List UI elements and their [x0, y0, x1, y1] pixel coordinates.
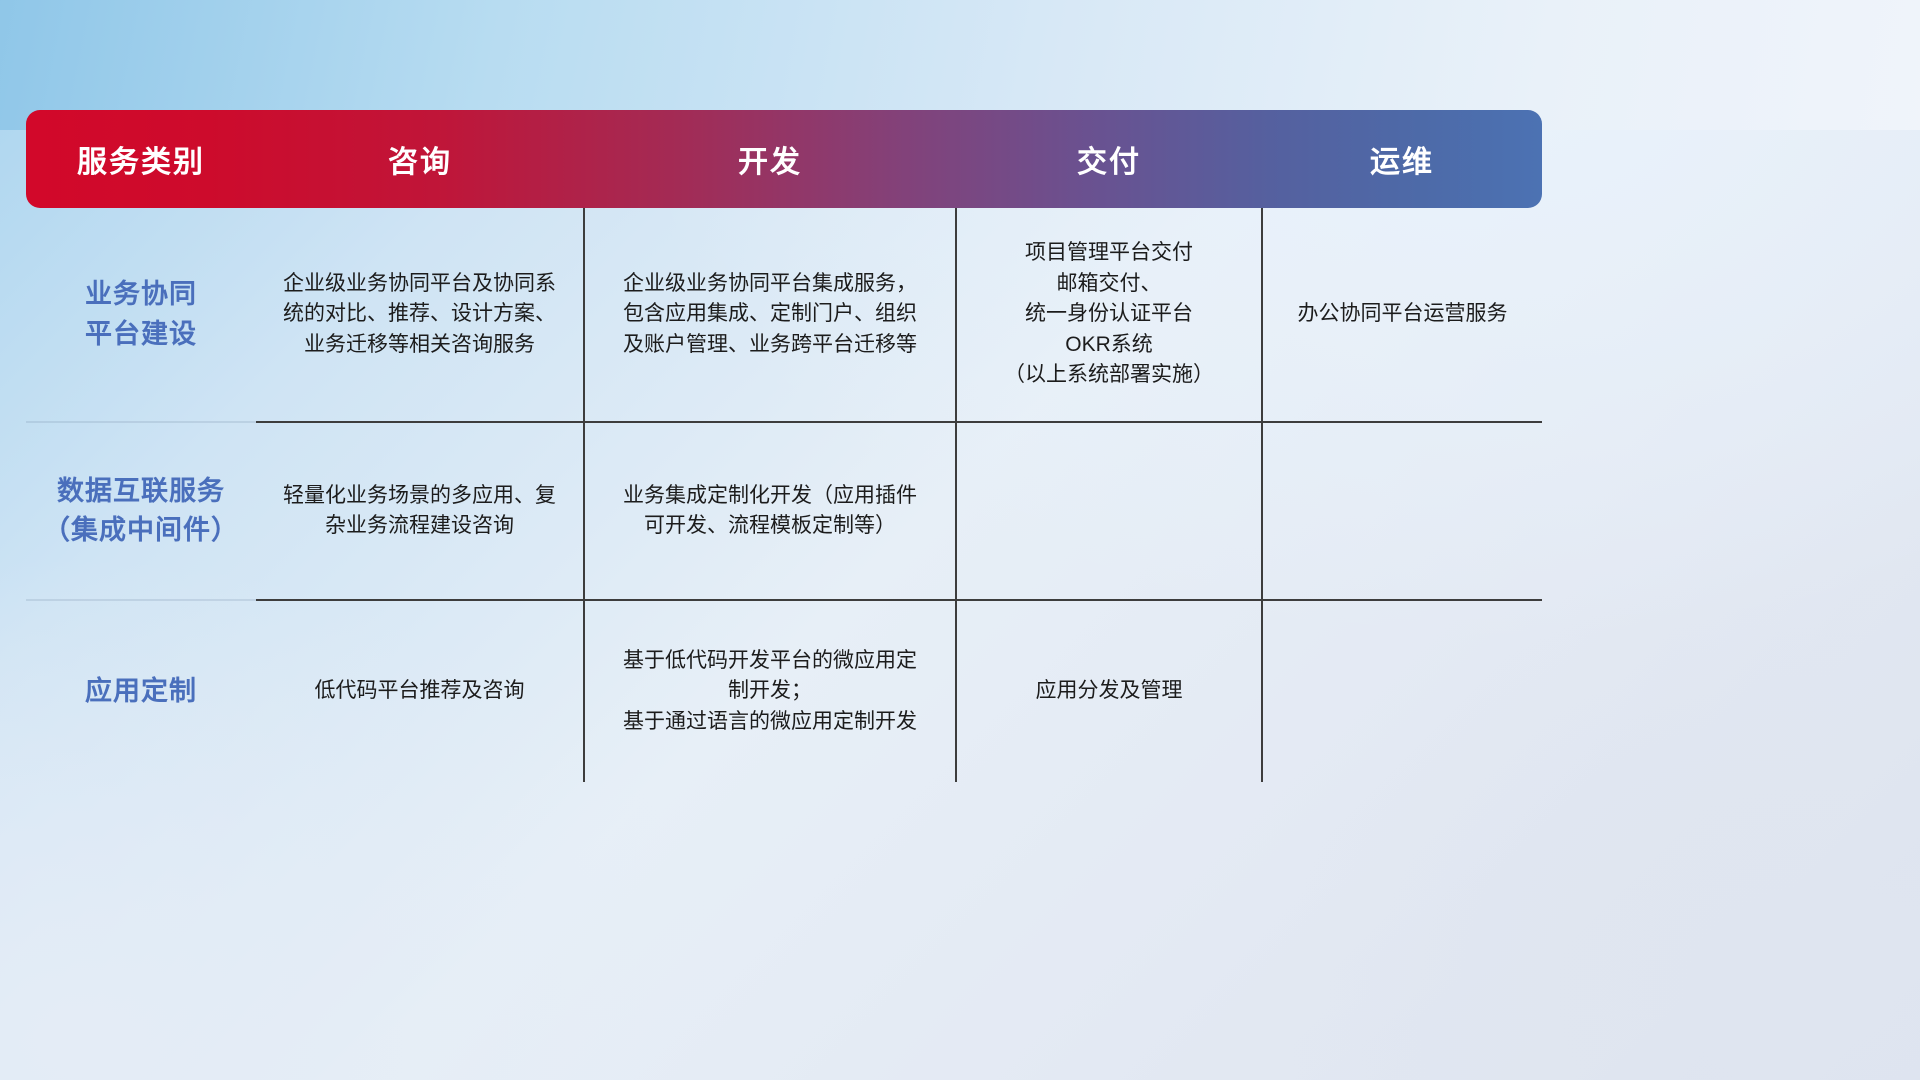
cell-development: 企业级业务协同平台集成服务， 包含应用集成、定制门户、组织 及账户管理、业务跨平…	[584, 208, 956, 422]
development-text: 业务集成定制化开发（应用插件 可开发、流程模板定制等）	[623, 484, 917, 537]
cell-operations	[1262, 600, 1542, 782]
cell-development: 业务集成定制化开发（应用插件 可开发、流程模板定制等）	[584, 422, 956, 600]
cell-consulting: 企业级业务协同平台及协同系 统的对比、推荐、设计方案、 业务迁移等相关咨询服务	[256, 208, 584, 422]
header-label-development: 开发	[738, 146, 802, 179]
cell-operations	[1262, 422, 1542, 600]
header-cell-service-category: 服务类别	[26, 110, 256, 208]
cell-consulting: 低代码平台推荐及咨询	[256, 600, 584, 782]
page-root: 服务类别 咨询 开发 交付 运维	[0, 0, 1920, 1080]
cell-category: 应用定制	[26, 600, 256, 782]
service-matrix-table: 服务类别 咨询 开发 交付 运维	[26, 110, 1542, 782]
category-label: 业务协同 平台建设	[85, 279, 197, 348]
table-body: 业务协同 平台建设 企业级业务协同平台及协同系 统的对比、推荐、设计方案、 业务…	[26, 208, 1542, 782]
category-label: 数据互联服务 （集成中间件）	[43, 476, 239, 545]
service-matrix-table-wrapper: 服务类别 咨询 开发 交付 运维	[26, 110, 1542, 782]
cell-consulting: 轻量化业务场景的多应用、复 杂业务流程建设咨询	[256, 422, 584, 600]
consulting-text: 企业级业务协同平台及协同系 统的对比、推荐、设计方案、 业务迁移等相关咨询服务	[283, 272, 556, 356]
header-label-delivery: 交付	[1077, 146, 1141, 179]
header-cell-delivery: 交付	[956, 110, 1262, 208]
delivery-text: 应用分发及管理	[1036, 679, 1183, 702]
header-row: 服务类别 咨询 开发 交付 运维	[26, 110, 1542, 208]
development-text: 基于低代码开发平台的微应用定 制开发； 基于通过语言的微应用定制开发	[623, 649, 917, 733]
cell-development: 基于低代码开发平台的微应用定 制开发； 基于通过语言的微应用定制开发	[584, 600, 956, 782]
header-cell-operations: 运维	[1262, 110, 1542, 208]
cell-category: 业务协同 平台建设	[26, 208, 256, 422]
header-label-consulting: 咨询	[388, 146, 452, 179]
table-header: 服务类别 咨询 开发 交付 运维	[26, 110, 1542, 208]
header-label-service-category: 服务类别	[77, 146, 205, 179]
header-cell-consulting: 咨询	[256, 110, 584, 208]
development-text: 企业级业务协同平台集成服务， 包含应用集成、定制门户、组织 及账户管理、业务跨平…	[623, 272, 917, 356]
header-label-operations: 运维	[1370, 146, 1434, 179]
operations-text: 办公协同平台运营服务	[1298, 302, 1508, 325]
cell-operations: 办公协同平台运营服务	[1262, 208, 1542, 422]
header-cell-development: 开发	[584, 110, 956, 208]
table-row: 应用定制 低代码平台推荐及咨询 基于低代码开发平台的微应用定 制开发； 基于通过…	[26, 600, 1542, 782]
cell-category: 数据互联服务 （集成中间件）	[26, 422, 256, 600]
cell-delivery: 项目管理平台交付 邮箱交付、 统一身份认证平台 OKR系统 （以上系统部署实施）	[956, 208, 1262, 422]
consulting-text: 低代码平台推荐及咨询	[315, 679, 525, 702]
category-label: 应用定制	[85, 676, 197, 706]
cell-delivery: 应用分发及管理	[956, 600, 1262, 782]
consulting-text: 轻量化业务场景的多应用、复 杂业务流程建设咨询	[283, 484, 556, 537]
table-row: 数据互联服务 （集成中间件） 轻量化业务场景的多应用、复 杂业务流程建设咨询 业…	[26, 422, 1542, 600]
delivery-text: 项目管理平台交付 邮箱交付、 统一身份认证平台 OKR系统 （以上系统部署实施）	[1004, 241, 1214, 386]
cell-delivery	[956, 422, 1262, 600]
table-row: 业务协同 平台建设 企业级业务协同平台及协同系 统的对比、推荐、设计方案、 业务…	[26, 208, 1542, 422]
